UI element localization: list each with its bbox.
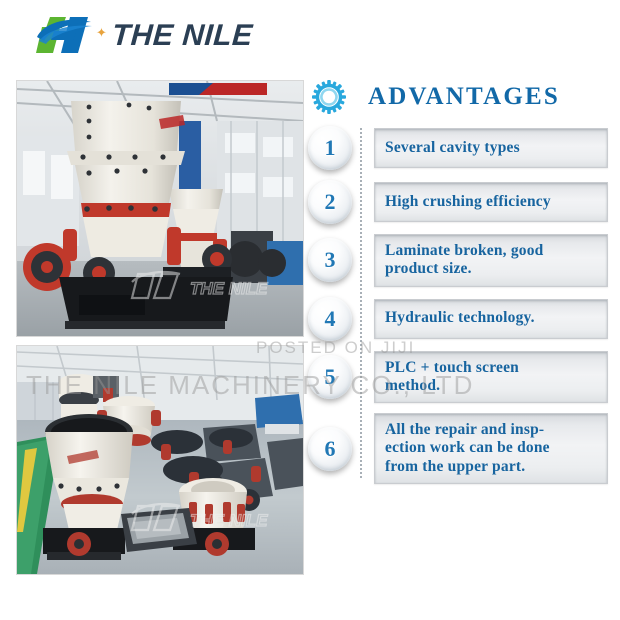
- gear-icon: [312, 80, 346, 114]
- page-header: ✦ THE NILE: [0, 0, 620, 72]
- advantages-header: ADVANTAGES: [308, 74, 608, 120]
- page-title: ADVANTAGES: [368, 83, 560, 111]
- advantages-list: 1 Several cavity types 2 High crushing e…: [308, 126, 608, 484]
- list-item[interactable]: 1 Several cavity types: [308, 126, 608, 170]
- item-label: High crushing efficiency: [385, 193, 551, 211]
- list-item[interactable]: 3 Laminate broken, goodproduct size.: [308, 234, 608, 287]
- brand-name: THE NILE: [111, 19, 254, 53]
- list-item[interactable]: 4 Hydraulic technology.: [308, 297, 608, 341]
- list-item[interactable]: 6 All the repair and insp-ection work ca…: [308, 413, 608, 484]
- item-number-badge: 2: [308, 180, 352, 224]
- item-number-badge: 1: [308, 126, 352, 170]
- item-number-badge: 6: [308, 427, 352, 471]
- item-label: Several cavity types: [385, 139, 520, 157]
- cone-crusher-warehouse-photo: [16, 345, 304, 575]
- item-label: PLC + touch screenmethod.: [385, 359, 519, 396]
- item-box: PLC + touch screenmethod.: [374, 351, 608, 404]
- item-box: All the repair and insp-ection work can …: [374, 413, 608, 484]
- item-box: Laminate broken, goodproduct size.: [374, 234, 608, 287]
- item-box: Hydraulic technology.: [374, 299, 608, 339]
- item-number-badge: 4: [308, 297, 352, 341]
- item-box: High crushing efficiency: [374, 182, 608, 222]
- list-item[interactable]: 5 PLC + touch screenmethod.: [308, 351, 608, 404]
- item-label: Hydraulic technology.: [385, 309, 535, 327]
- the-nile-logo-mark-icon: [36, 13, 98, 59]
- item-label: All the repair and insp-ection work can …: [385, 421, 550, 476]
- item-number-badge: 5: [308, 355, 352, 399]
- advantages-section: ADVANTAGES 1 Several cavity types 2 High…: [308, 74, 608, 494]
- item-label: Laminate broken, goodproduct size.: [385, 242, 544, 279]
- cone-crusher-factory-photo: [16, 80, 304, 337]
- item-box: Several cavity types: [374, 128, 608, 168]
- list-item[interactable]: 2 High crushing efficiency: [308, 180, 608, 224]
- sparkle-icon: ✦: [96, 28, 108, 40]
- item-number-badge: 3: [308, 238, 352, 282]
- brand-logo: ✦ THE NILE: [36, 12, 253, 60]
